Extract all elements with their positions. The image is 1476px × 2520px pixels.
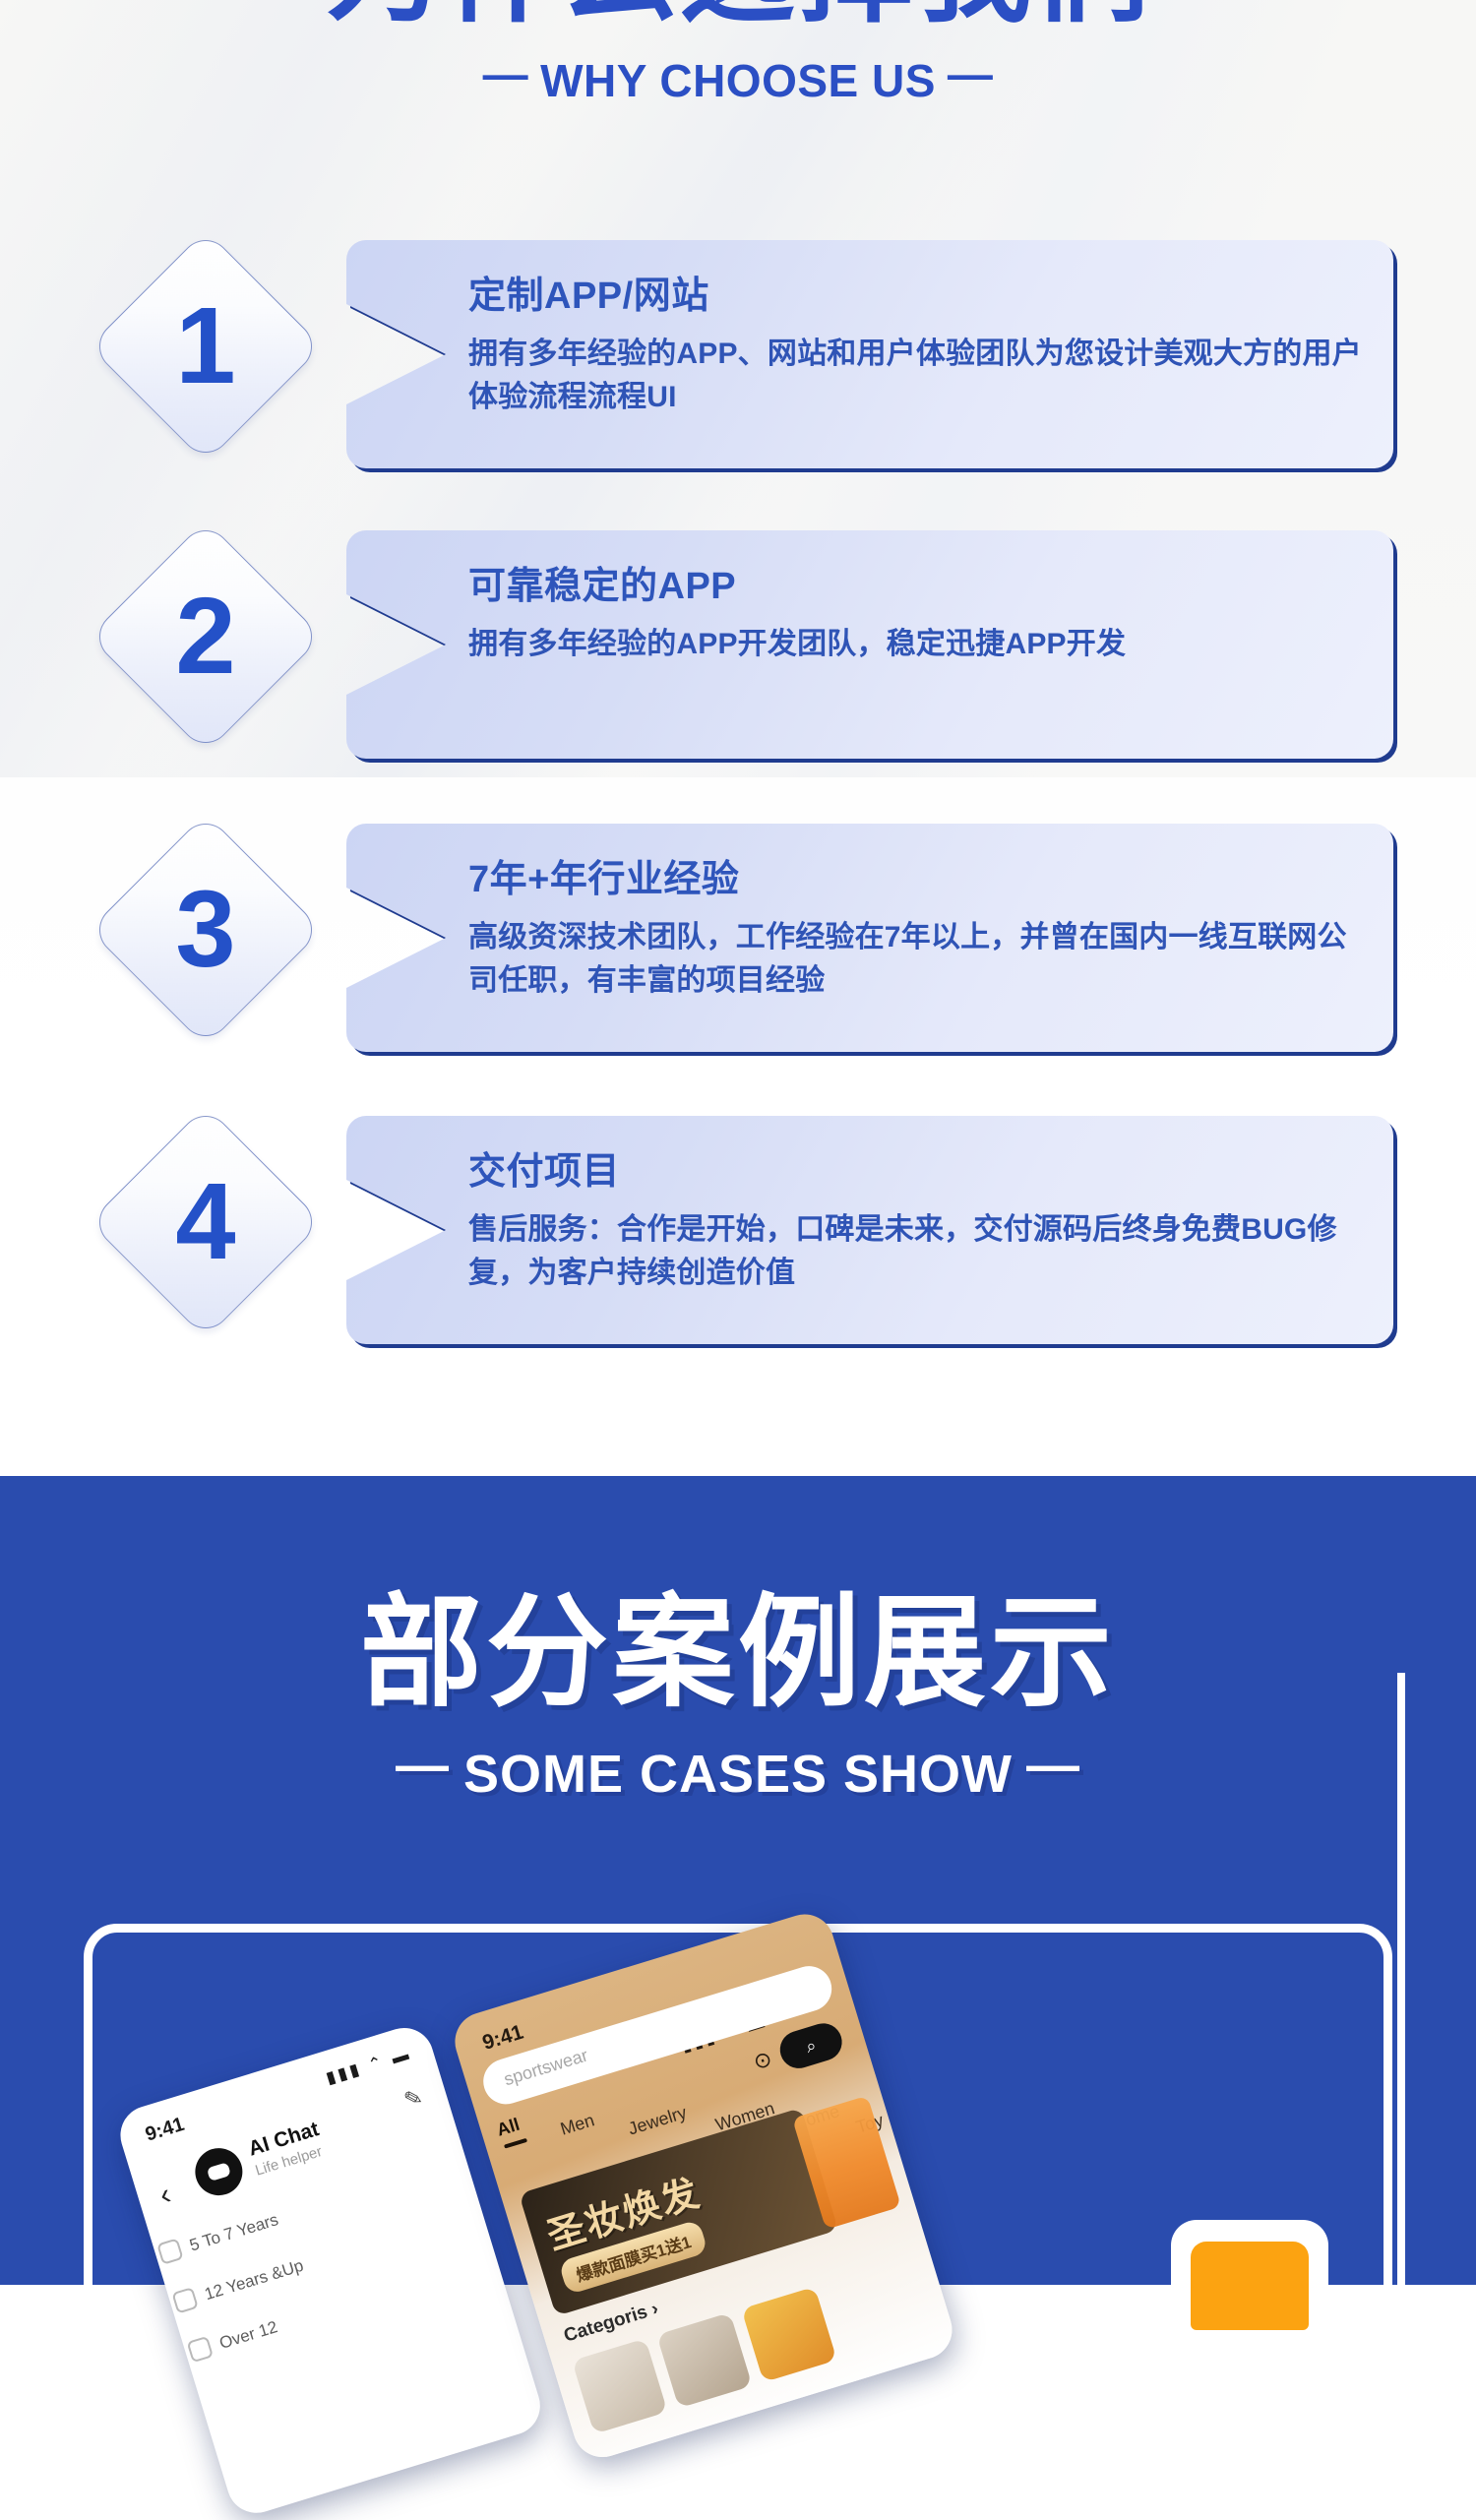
feature-number-2: 2 bbox=[92, 523, 319, 750]
dash-right-cases: — bbox=[1013, 1736, 1094, 1795]
dash-left: — bbox=[471, 48, 541, 99]
card-text-2: 可靠稳定的APP 拥有多年经验的APP开发团队，稳定迅捷APP开发 bbox=[468, 564, 1364, 666]
phone-left-status-icons: ▮▮▮ ⌃ ▬ bbox=[324, 2044, 414, 2088]
card-text-1: 定制APP/网站 拥有多年经验的APP、网站和用户体验团队为您设计美观大方的用户… bbox=[468, 274, 1364, 419]
feature-desc-2: 拥有多年经验的APP开发团队，稳定迅捷APP开发 bbox=[468, 623, 1364, 666]
feature-number-1: 1 bbox=[92, 233, 319, 460]
back-icon[interactable]: ‹ bbox=[156, 2180, 174, 2211]
feature-number-badge-3: 3 bbox=[92, 817, 319, 1043]
search-icon[interactable]: ⌕ bbox=[775, 2019, 846, 2073]
frame-right-stripe bbox=[1397, 1673, 1405, 2285]
feature-title-4: 交付项目 bbox=[468, 1149, 1364, 1195]
why-header: 为什么选择我们 —WHY CHOOSE US— bbox=[0, 0, 1476, 106]
tab-jewelry[interactable]: Jewelry bbox=[626, 2103, 689, 2140]
category-thumb-2[interactable] bbox=[656, 2312, 752, 2408]
dash-left-cases: — bbox=[382, 1736, 463, 1795]
card-text-3: 7年+年行业经验 高级资深技术团队，工作经验在7年以上，并曾在国内一线互联网公司… bbox=[468, 857, 1364, 1003]
dash-right: — bbox=[936, 48, 1006, 99]
checkbox-option-2-label: 12 Years &Up bbox=[203, 2256, 306, 2305]
feature-row-1: 1 定制APP/网站 拥有多年经验的APP、网站和用户体验团队为您设计美观大方的… bbox=[0, 233, 1476, 474]
phone-right-time: 9:41 bbox=[480, 2021, 526, 2056]
phone-left-time: 9:41 bbox=[143, 2114, 187, 2147]
checkbox-option-2[interactable]: 12 Years &Up bbox=[203, 2256, 306, 2305]
feature-desc-1: 拥有多年经验的APP、网站和用户体验团队为您设计美观大方的用户体验流程流程UI bbox=[468, 333, 1364, 419]
feature-row-2: 2 可靠稳定的APP 拥有多年经验的APP开发团队，稳定迅捷APP开发 bbox=[0, 523, 1476, 765]
feature-number-4: 4 bbox=[92, 1109, 319, 1335]
checkbox-icon[interactable] bbox=[171, 2287, 198, 2313]
checkbox-icon[interactable] bbox=[156, 2238, 183, 2264]
edit-icon[interactable]: ✎ bbox=[401, 2084, 426, 2114]
feature-number-badge-4: 4 bbox=[92, 1109, 319, 1335]
feature-card-4[interactable]: 交付项目 售后服务：合作是开始，口碑是未来，交付源码后终身免费BUG修复，为客户… bbox=[346, 1116, 1393, 1344]
cases-title-chinese: 部分案例展示 bbox=[0, 1589, 1476, 1717]
feature-number-badge-2: 2 bbox=[92, 523, 319, 750]
feature-card-3[interactable]: 7年+年行业经验 高级资深技术团队，工作经验在7年以上，并曾在国内一线互联网公司… bbox=[346, 824, 1393, 1052]
card-text-4: 交付项目 售后服务：合作是开始，口碑是未来，交付源码后终身免费BUG修复，为客户… bbox=[468, 1149, 1364, 1295]
avatar bbox=[189, 2142, 248, 2201]
feature-title-1: 定制APP/网站 bbox=[468, 274, 1364, 319]
tab-men[interactable]: Men bbox=[558, 2110, 597, 2139]
case-card-yellow-graphic bbox=[1191, 2242, 1309, 2330]
feature-card-2[interactable]: 可靠稳定的APP 拥有多年经验的APP开发团队，稳定迅捷APP开发 bbox=[346, 530, 1393, 759]
search-input-value: sportswear bbox=[502, 2045, 590, 2090]
case-card-yellow[interactable] bbox=[1171, 2220, 1328, 2338]
feature-row-4: 4 交付项目 售后服务：合作是开始，口碑是未来，交付源码后终身免费BUG修复，为… bbox=[0, 1109, 1476, 1350]
feature-number-3: 3 bbox=[92, 817, 319, 1043]
cases-title-english-text: SOME CASES SHOW bbox=[463, 1745, 1013, 1804]
checkbox-icon[interactable] bbox=[187, 2336, 214, 2363]
feature-card-1[interactable]: 定制APP/网站 拥有多年经验的APP、网站和用户体验团队为您设计美观大方的用户… bbox=[346, 240, 1393, 468]
feature-title-2: 可靠稳定的APP bbox=[468, 564, 1364, 609]
category-thumb-1[interactable] bbox=[572, 2338, 667, 2433]
why-choose-us-section: 为什么选择我们 —WHY CHOOSE US— 1 定制APP/网站 拥有多年经… bbox=[0, 0, 1476, 1476]
category-thumb-3[interactable] bbox=[741, 2287, 836, 2382]
tab-all[interactable]: All bbox=[494, 2115, 522, 2141]
feature-title-3: 7年+年行业经验 bbox=[468, 857, 1364, 902]
cases-title-english: —SOME CASES SHOW— bbox=[0, 1745, 1476, 1804]
feature-row-3: 3 7年+年行业经验 高级资深技术团队，工作经验在7年以上，并曾在国内一线互联网… bbox=[0, 817, 1476, 1058]
why-title-english: —WHY CHOOSE US— bbox=[0, 55, 1476, 106]
feature-desc-3: 高级资深技术团队，工作经验在7年以上，并曾在国内一线互联网公司任职，有丰富的项目… bbox=[468, 916, 1364, 1003]
feature-desc-4: 售后服务：合作是开始，口碑是未来，交付源码后终身免费BUG修复，为客户持续创造价… bbox=[468, 1208, 1364, 1295]
checkbox-option-1-label: 5 To 7 Years bbox=[187, 2210, 280, 2254]
cases-header: 部分案例展示 —SOME CASES SHOW— bbox=[0, 1476, 1476, 1804]
why-title-english-text: WHY CHOOSE US bbox=[540, 55, 936, 106]
camera-icon[interactable]: ⊙ bbox=[751, 2046, 775, 2075]
checkbox-option-3-label: Over 12 bbox=[217, 2317, 279, 2353]
feature-number-badge-1: 1 bbox=[92, 233, 319, 460]
why-title-chinese: 为什么选择我们 bbox=[0, 0, 1476, 30]
checkbox-option-1[interactable]: 5 To 7 Years bbox=[187, 2210, 280, 2255]
checkbox-option-3[interactable]: Over 12 bbox=[217, 2317, 280, 2354]
